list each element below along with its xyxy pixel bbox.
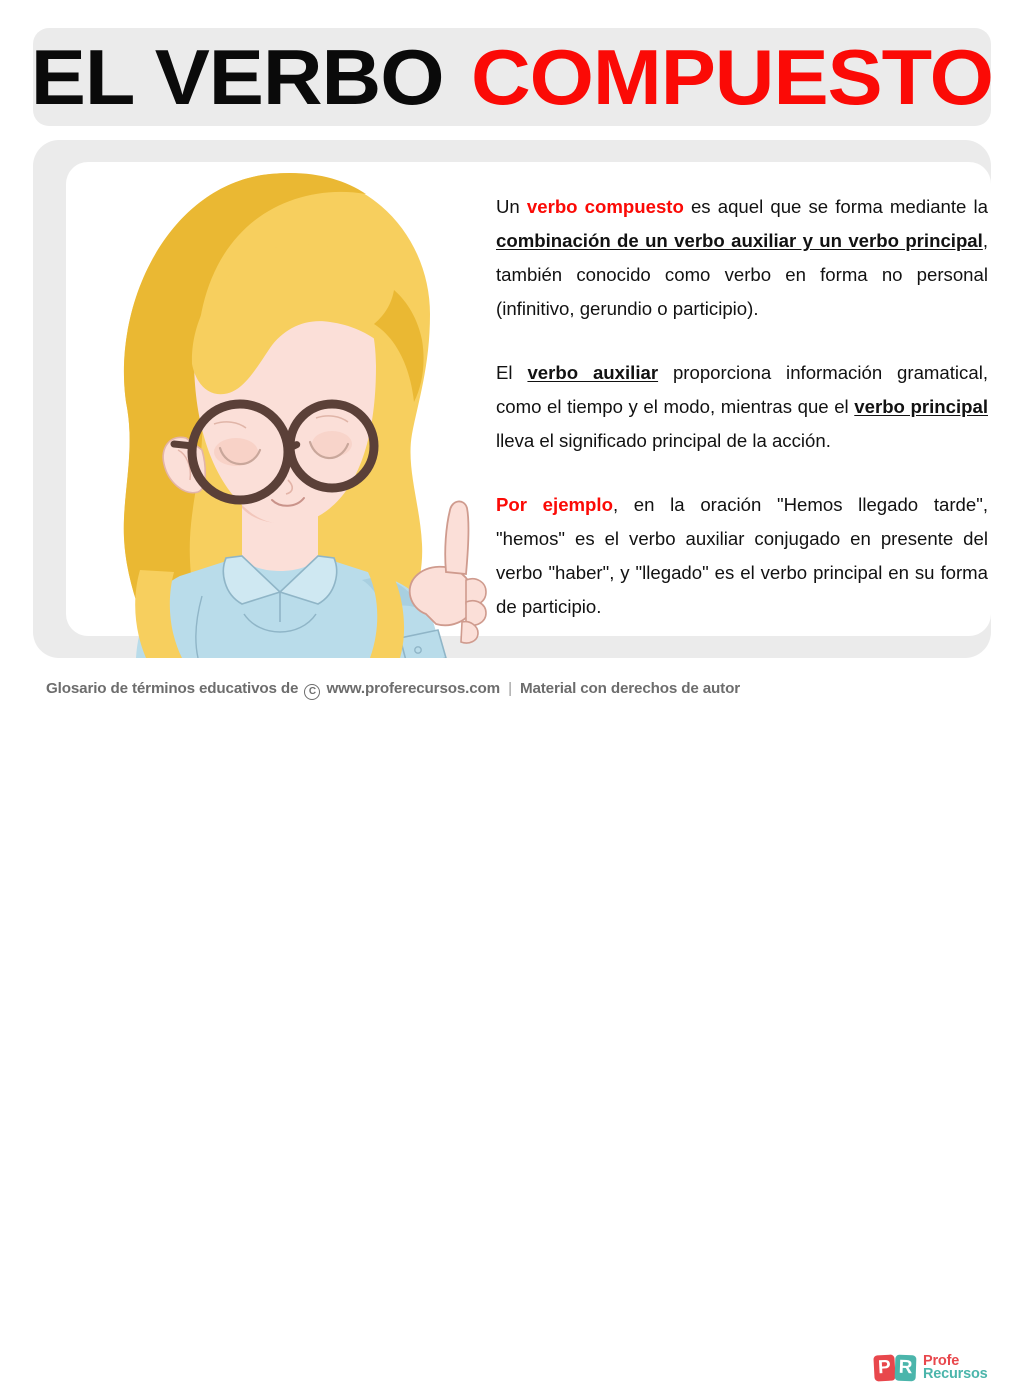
- teacher-illustration: [74, 152, 504, 692]
- logo-wordmark: Profe Recursos: [923, 1355, 988, 1381]
- footer-glosario-label: Glosario de términos educativos de: [46, 680, 298, 697]
- definition-text-column: Un verbo compuesto es aquel que se forma…: [496, 190, 988, 624]
- title-part-black: EL VERBO: [33, 33, 444, 121]
- copyright-icon: C: [304, 684, 320, 700]
- book-teal-spine: [210, 754, 227, 796]
- book-red-page-lines: [254, 739, 384, 750]
- book-teal-cover: [224, 748, 498, 770]
- logo-word-recursos: Recursos: [923, 1368, 988, 1381]
- book-red-page-block: [234, 730, 484, 760]
- title-part-red: COMPUESTO: [471, 33, 991, 121]
- book-teal-band: [312, 749, 344, 796]
- content-card: Un verbo compuesto es aquel que se forma…: [66, 162, 991, 636]
- text-segment-explanation-3: verbo principal: [854, 396, 988, 417]
- book-bottom-teal: [210, 748, 499, 796]
- text-segment-definition-2: es aquel que se forma mediante la: [684, 196, 988, 217]
- text-segment-explanation-4: lleva el significado principal de la acc…: [496, 430, 831, 451]
- footer-separator: |: [508, 680, 512, 697]
- page-title: EL VERBOCOMPUESTO: [33, 38, 991, 116]
- logo-word-profe: Profe: [923, 1355, 988, 1368]
- footer: Glosario de términos educativos de C www…: [0, 672, 1024, 724]
- text-segment-definition-3: combinación de un verbo auxiliar y un ve…: [496, 230, 983, 251]
- text-segment-explanation-1: verbo auxiliar: [527, 362, 658, 383]
- content-shell: Un verbo compuesto es aquel que se forma…: [33, 140, 991, 658]
- footer-site-link[interactable]: www.proferecursos.com: [326, 680, 500, 697]
- book-teal-page-lines: [244, 775, 374, 786]
- finger-line-2: [270, 736, 314, 748]
- footer-rights-label: Material con derechos de autor: [520, 680, 740, 697]
- logo-badges: P R: [874, 1353, 918, 1383]
- title-banner: EL VERBOCOMPUESTO: [33, 28, 991, 126]
- infographic-page: EL VERBOCOMPUESTO: [0, 0, 1024, 724]
- finger-line-3: [264, 751, 304, 762]
- glasses-temple-left: [174, 444, 193, 446]
- book-red-spine: [216, 718, 234, 760]
- paragraph-explanation: El verbo auxiliar proporciona informació…: [496, 356, 988, 458]
- paragraph-example: Por ejemplo, en la oración "Hemos llegad…: [496, 488, 988, 624]
- book-teal-page-block: [226, 764, 498, 796]
- paragraph-definition: Un verbo compuesto es aquel que se forma…: [496, 190, 988, 326]
- proferecursos-logo[interactable]: P R Profe Recursos: [874, 1348, 1006, 1388]
- index-finger: [445, 501, 468, 574]
- text-segment-example-0: Por ejemplo: [496, 494, 613, 515]
- text-segment-explanation-0: El: [496, 362, 527, 383]
- book-teal-pages: [224, 748, 498, 796]
- text-segment-definition-1: verbo compuesto: [527, 196, 684, 217]
- logo-badge-r: R: [895, 1355, 917, 1382]
- text-segment-definition-0: Un: [496, 196, 527, 217]
- footer-credit: Glosario de términos educativos de C www…: [46, 680, 740, 700]
- logo-badge-p: P: [873, 1354, 895, 1381]
